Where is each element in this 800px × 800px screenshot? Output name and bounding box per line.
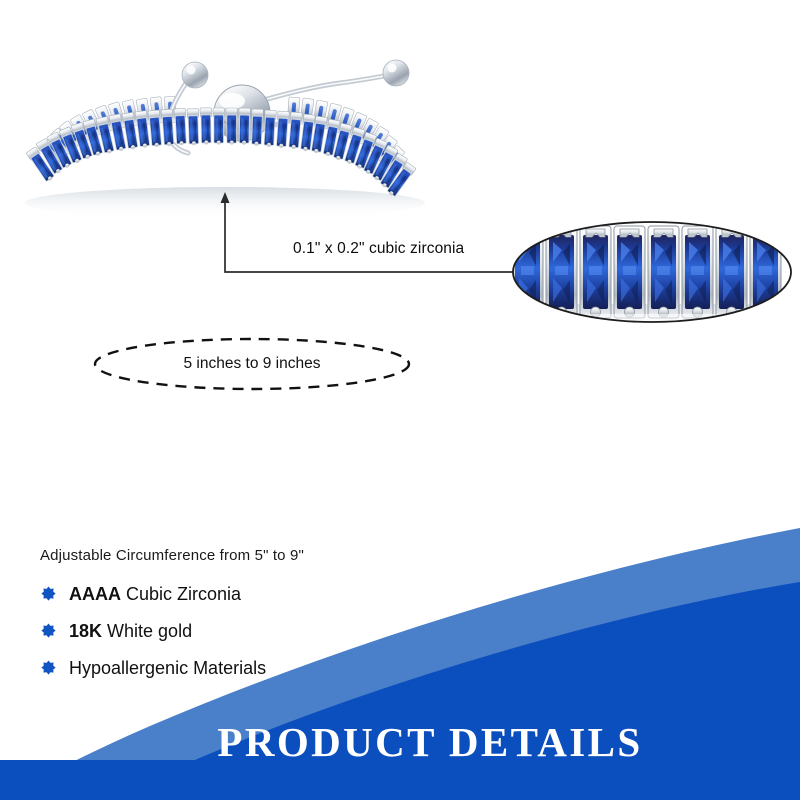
callout-arrow-icon (221, 192, 230, 203)
banner-title: PRODUCT DETAILS (0, 718, 800, 766)
length-range-label: 5 inches to 9 inches (92, 336, 412, 392)
gem-closeup-oval (510, 218, 795, 326)
product-detail-image: 0.1" x 0.2" cubic zirconia (0, 0, 800, 800)
gem-size-label: 0.1" x 0.2" cubic zirconia (293, 240, 464, 258)
